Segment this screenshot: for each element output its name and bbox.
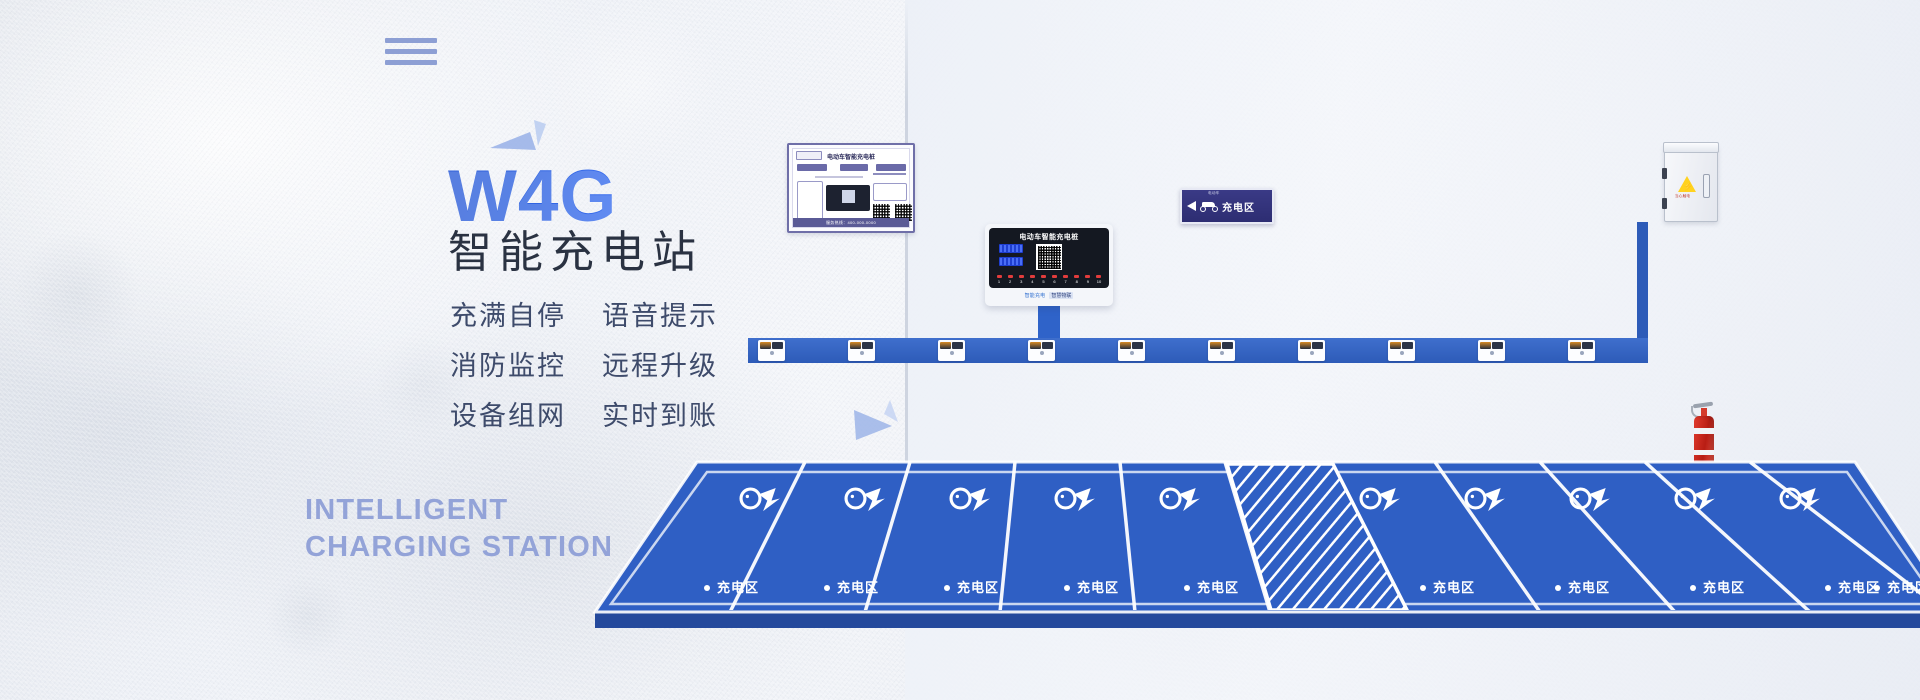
power-socket[interactable]	[1568, 340, 1595, 361]
bay-label: 充电区	[1838, 580, 1880, 595]
power-socket[interactable]	[1118, 340, 1145, 361]
decorative-arrow-bottom	[850, 400, 902, 452]
charging-pile-face: 电动车智能充电桩 1 2 3 4 5 6 7 8 9 10	[989, 228, 1109, 288]
wall-power-rail	[748, 338, 1648, 363]
hero-banner: W4G 智能充电站 充满自停 语音提示 消防监控 远程升级 设备组网 实时到账 …	[0, 0, 1920, 700]
power-socket[interactable]	[1478, 340, 1505, 361]
feature-item: 实时到账	[602, 394, 718, 433]
notice-board-inner: 电动车智能充电桩 服务热线：400-000-0000	[792, 148, 910, 228]
power-socket[interactable]	[1208, 340, 1235, 361]
power-socket[interactable]	[758, 340, 785, 361]
bay-label: 充电区	[837, 580, 879, 595]
bay-label: 充电区	[1433, 580, 1475, 595]
charging-pile-port[interactable]: 7	[1062, 275, 1070, 284]
notice-board-panel-left	[797, 181, 823, 221]
charging-pile-qr-code[interactable]	[1036, 244, 1062, 270]
charging-pile-port[interactable]: 9	[1084, 275, 1092, 284]
charging-pile-port-row: 1 2 3 4 5 6 7 8 9 10	[995, 275, 1103, 284]
charging-pile-port[interactable]: 10	[1095, 275, 1103, 284]
hamburger-menu-icon[interactable]	[385, 38, 437, 64]
direction-sign-sub: 电动车	[1208, 191, 1220, 196]
notice-board-footer-text: 服务热线：400-000-0000	[793, 218, 909, 227]
bay-label: 充电区	[1197, 580, 1239, 595]
notice-board-device-image	[826, 185, 870, 211]
extinguisher-band	[1694, 428, 1714, 434]
charging-pile-footer: 智能充电 智慧物联	[989, 288, 1109, 302]
power-socket[interactable]	[848, 340, 875, 361]
charging-pile-badge: 智慧物联	[1049, 292, 1073, 299]
power-socket[interactable]	[1298, 340, 1325, 361]
cabinet-top-cap	[1663, 142, 1719, 153]
cabinet-latch	[1703, 174, 1710, 198]
charging-pile-port[interactable]: 2	[1006, 275, 1014, 284]
feature-list: 充满自停 语音提示 消防监控 远程升级 设备组网 实时到账	[450, 294, 718, 433]
power-socket[interactable]	[938, 340, 965, 361]
bay-label: 充电区	[1887, 580, 1920, 595]
charging-pile-brand: 智能充电	[1025, 292, 1046, 299]
feature-item: 充满自停	[450, 294, 566, 333]
extinguisher-band	[1694, 450, 1714, 455]
menu-bar-1	[385, 38, 437, 43]
menu-bar-2	[385, 49, 437, 54]
charging-pile-port[interactable]: 1	[995, 275, 1003, 284]
charging-pile-led-display-2	[999, 257, 1023, 266]
notice-board-rule	[873, 173, 906, 175]
charging-pile-port[interactable]: 3	[1017, 275, 1025, 284]
notice-board-title: 电动车智能充电桩	[793, 152, 909, 161]
floor-slab-edge	[595, 612, 1920, 628]
parking-floor: 充电区 充电区 充电区	[555, 460, 1920, 700]
power-socket[interactable]	[1028, 340, 1055, 361]
notice-board-tag-right	[876, 164, 906, 171]
direction-sign-label: 充电区	[1222, 199, 1255, 214]
charging-pile-led-display-1	[999, 244, 1023, 253]
cabinet-hinge	[1662, 198, 1667, 209]
menu-bar-3	[385, 60, 437, 65]
feature-item: 设备组网	[450, 394, 566, 433]
high-voltage-warning-icon	[1678, 176, 1696, 192]
wall-rail-downpipe	[1637, 222, 1648, 342]
charging-pile-port[interactable]: 8	[1073, 275, 1081, 284]
scooter-icon	[1200, 200, 1218, 212]
bay-label: 充电区	[957, 580, 999, 595]
notice-board-panel-right	[873, 183, 907, 201]
feature-item: 远程升级	[602, 344, 718, 383]
charging-pile-port[interactable]: 5	[1039, 275, 1047, 284]
direction-sign: 充电区 电动车	[1180, 188, 1274, 224]
notice-board: 电动车智能充电桩 服务热线：400-000-0000	[787, 143, 915, 233]
cabinet-hinge	[1662, 168, 1667, 179]
bay-label: 充电区	[1568, 580, 1610, 595]
arrow-left-icon	[1187, 201, 1196, 211]
power-socket[interactable]	[1388, 340, 1415, 361]
notice-board-tag-left	[797, 164, 827, 171]
charging-pile-port[interactable]: 4	[1028, 275, 1036, 284]
cabinet-warning-label: 当心触电	[1675, 194, 1690, 199]
feature-item: 语音提示	[602, 294, 718, 333]
notice-board-footer: 服务热线：400-000-0000	[793, 218, 909, 227]
feature-item: 消防监控	[450, 344, 566, 383]
page-subtitle: 智能充电站	[448, 216, 703, 280]
notice-board-tag-mid	[840, 164, 868, 171]
notice-board-divider	[815, 176, 863, 178]
charging-pile-port[interactable]: 6	[1051, 275, 1059, 284]
bay-label: 充电区	[1077, 580, 1119, 595]
bay-label: 充电区	[1703, 580, 1745, 595]
electrical-cabinet: 当心触电	[1664, 145, 1718, 222]
charging-pile[interactable]: 电动车智能充电桩 1 2 3 4 5 6 7 8 9 10 智能充电 智慧物联	[985, 224, 1113, 306]
bay-label: 充电区	[717, 580, 759, 595]
charging-pile-title: 电动车智能充电桩	[989, 232, 1109, 242]
parking-floor-svg: 充电区 充电区 充电区	[555, 460, 1920, 700]
